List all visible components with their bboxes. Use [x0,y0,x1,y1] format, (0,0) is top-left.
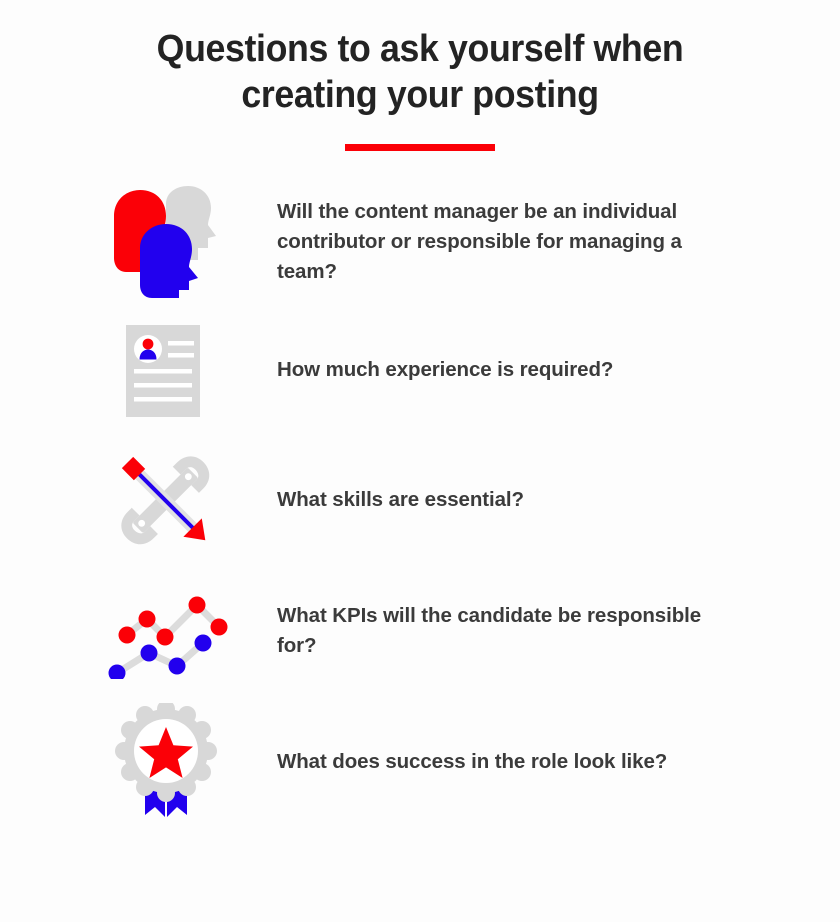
list-item: How much experience is required? [0,306,840,434]
list-item: What KPIs will the candidate be responsi… [0,566,840,696]
question-text: How much experience is required? [277,355,613,385]
infographic-page: Questions to ask yourself when creating … [0,0,840,922]
page-title-line-2: creating your posting [241,74,598,116]
question-text: What does success in the role look like? [277,747,667,777]
line-chart-icon [100,571,230,691]
resume-document-icon [100,310,230,430]
list-item: What does success in the role look like? [0,696,840,828]
page-title-line-1: Questions to ask yourself when [157,28,684,70]
accent-divider-bar [345,144,495,151]
question-text: Will the content manager be an individua… [277,197,707,287]
page-title: Questions to ask yourself when creating … [138,26,702,118]
question-list: Will the content manager be an individua… [0,178,840,828]
list-item: What skills are essential? [0,434,840,566]
three-heads-icon [100,182,230,302]
award-badge-icon [100,702,230,822]
list-item: Will the content manager be an individua… [0,178,840,306]
wrench-screwdriver-icon [100,440,230,560]
question-text: What KPIs will the candidate be responsi… [277,601,707,661]
question-text: What skills are essential? [277,485,524,515]
header: Questions to ask yourself when creating … [0,26,840,151]
